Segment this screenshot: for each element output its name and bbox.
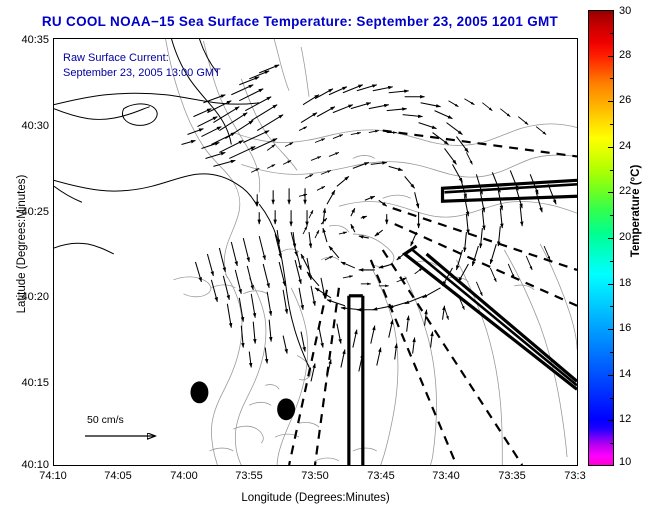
xtick-1: 74:05	[92, 470, 144, 482]
figure-title: RU COOL NOAA−15 Sea Surface Temperature:…	[0, 14, 600, 29]
cb-tick-mark-30	[608, 10, 613, 11]
x-axis-label: Longitude (Degrees:Minutes)	[53, 492, 578, 504]
map-plot-area[interactable]: Raw Surface Current: September 23, 2005 …	[53, 38, 578, 466]
colorbar-title: Temperature (°C)	[630, 141, 642, 281]
cb-tick-mark-16	[608, 329, 613, 330]
map-canvas	[54, 39, 577, 465]
cb-tick-mark-14	[608, 375, 613, 376]
cb-tick-mark-12	[608, 420, 613, 421]
cb-minor-29	[610, 33, 613, 34]
cb-tick-mark-22	[608, 192, 613, 193]
shipping-lanes-solid	[349, 180, 577, 465]
colorbar[interactable]: 30 28 26 24 22 20 18 16 14 12 10	[588, 10, 614, 466]
ytick-0: 40:35	[3, 34, 49, 46]
xtick-0: 74:10	[27, 470, 79, 482]
xtick-3: 73:55	[223, 470, 275, 482]
ytick-4: 40:15	[3, 377, 49, 389]
xtick-7: 73:35	[486, 470, 538, 482]
cb-minor-25	[610, 124, 613, 125]
xtick-6: 73:40	[420, 470, 472, 482]
shipping-lanes-solid-2	[413, 184, 577, 385]
cb-tick-mark-28	[608, 56, 613, 57]
cb-label-26: 26	[619, 94, 631, 106]
cb-minor-27	[610, 78, 613, 79]
shipping-lanes-dashed	[289, 131, 577, 465]
xtick-5: 73:45	[355, 470, 407, 482]
cb-minor-21	[610, 215, 613, 216]
coastline	[54, 39, 309, 367]
cb-minor-17	[610, 306, 613, 307]
cb-minor-13	[610, 398, 613, 399]
cb-minor-15	[610, 352, 613, 353]
cb-minor-23	[610, 170, 613, 171]
cb-tick-mark-10	[608, 465, 613, 466]
cb-label-14: 14	[619, 368, 631, 380]
ytick-1: 40:30	[3, 120, 49, 132]
cb-label-30: 30	[619, 5, 631, 17]
station-markers[interactable]	[190, 381, 295, 420]
cb-tick-mark-18	[608, 284, 613, 285]
cb-minor-19	[610, 261, 613, 262]
surface-current-vectors	[182, 65, 557, 382]
cb-label-16: 16	[619, 322, 631, 334]
cb-label-12: 12	[619, 413, 631, 425]
cb-label-10: 10	[619, 456, 631, 468]
cb-tick-mark-20	[608, 238, 613, 239]
cb-label-28: 28	[619, 49, 631, 61]
y-axis-label: Latitude (Degrees:Minutes)	[16, 164, 28, 324]
sst-current-figure: RU COOL NOAA−15 Sea Surface Temperature:…	[0, 0, 651, 518]
xtick-8: 73:3	[549, 470, 601, 482]
ytick-5: 40:10	[3, 459, 49, 471]
cb-tick-mark-26	[608, 101, 613, 102]
cb-minor-11	[610, 443, 613, 444]
cb-tick-mark-24	[608, 147, 613, 148]
xtick-4: 73:50	[289, 470, 341, 482]
xtick-2: 74:00	[158, 470, 210, 482]
